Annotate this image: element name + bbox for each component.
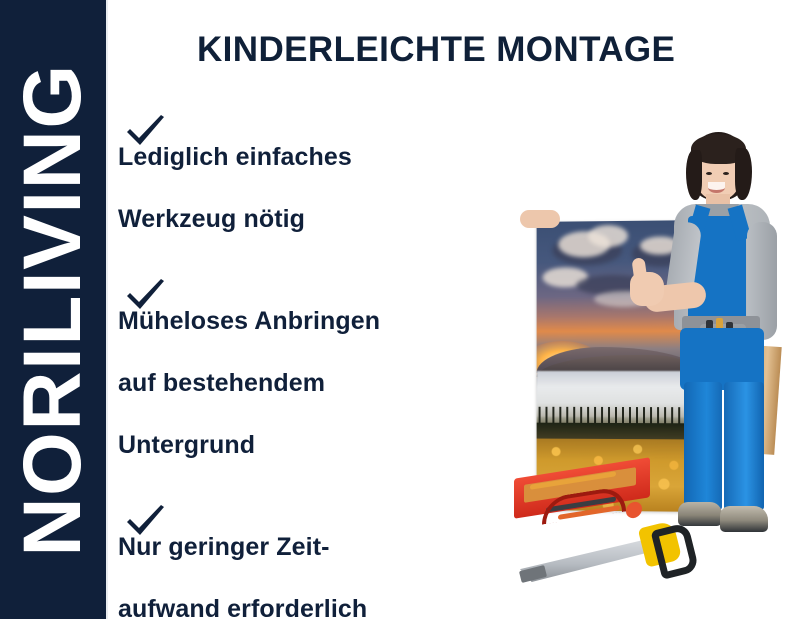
hand-on-canvas (520, 210, 560, 228)
list-item-line: Müheloses Anbringen (118, 290, 538, 352)
red-toolbox (506, 462, 658, 566)
list-item-line: aufwand erforderlich (118, 578, 538, 619)
hair-side-left (686, 150, 702, 200)
thumbs-up-icon (631, 257, 647, 283)
shoe-right (720, 506, 768, 532)
overall-hip (680, 328, 764, 390)
eye-left (706, 172, 712, 175)
list-item-text: Lediglich einfaches Werkzeug nötig (118, 126, 538, 250)
leg-right (724, 382, 764, 510)
list-item-line: Nur geringer Zeit- (118, 516, 538, 578)
list-item-text: Nur geringer Zeit- aufwand erforderlich (118, 516, 538, 619)
checkmark-icon (124, 276, 166, 312)
benefits-list: Lediglich einfaches Werkzeug nötig Mühel… (118, 108, 538, 619)
list-item: Nur geringer Zeit- aufwand erforderlich (118, 498, 538, 619)
product-photo (492, 110, 799, 619)
list-item: Lediglich einfaches Werkzeug nötig (118, 108, 538, 250)
promo-banner: NORILIVING KINDERLEICHTE MONTAGE Ledigli… (0, 0, 799, 619)
brand-wordmark: NORILIVING (12, 63, 94, 556)
list-item-text: Müheloses Anbringen auf bestehendem Unte… (118, 290, 538, 476)
list-item-line: Untergrund (118, 414, 538, 476)
list-item: Müheloses Anbringen auf bestehendem Unte… (118, 272, 538, 476)
smile (708, 182, 725, 193)
eye-right (723, 172, 729, 175)
hair-side-right (735, 148, 752, 200)
brand-sidebar: NORILIVING (0, 0, 106, 619)
checkmark-icon (124, 502, 166, 538)
list-item-line: Lediglich einfaches (118, 126, 538, 188)
list-item-line: Werkzeug nötig (118, 188, 538, 250)
page-title: KINDERLEICHTE MONTAGE (197, 30, 675, 70)
leg-left (684, 382, 722, 510)
checkmark-icon (124, 112, 166, 148)
list-item-line: auf bestehendem (118, 352, 538, 414)
brand-wordmark-rotator: NORILIVING (12, 63, 94, 556)
